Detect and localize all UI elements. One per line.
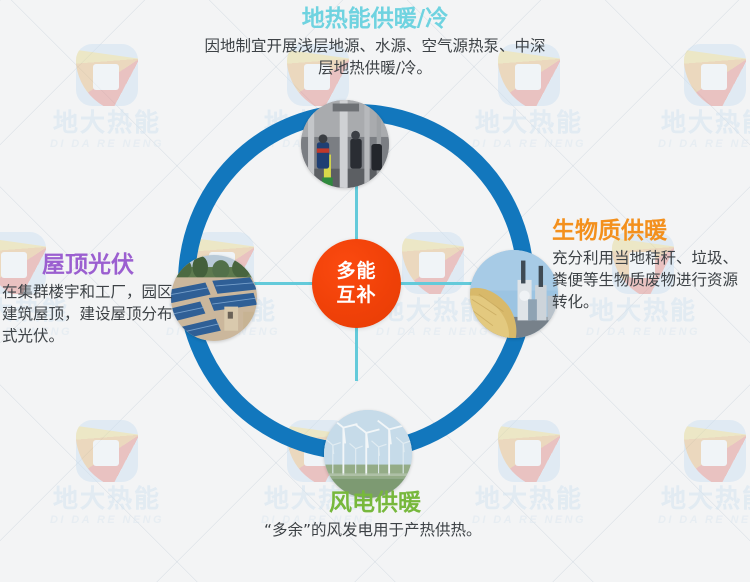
geothermal-equipment-photo[interactable] [301,100,389,188]
watermark-cn-text: 地大热能 [53,486,161,511]
watermark-cn-text: 地大热能 [53,110,161,135]
watermark-en-text: DI DA RE NENG [50,138,164,150]
brand-logo-icon [76,420,138,482]
watermark-en-text: DI DA RE NENG [658,138,750,150]
watermark-tile: 地大热能 DI DA RE NENG [630,44,750,194]
connector-spoke-bottom [355,325,358,381]
connector-spoke-top [355,186,358,242]
node-text-top: 地热能供暖/冷 因地制宜开展浅层地源、水源、空气源热泵、中深层地热供暖/冷。 [200,6,550,79]
watermark-tile: 地大热能 DI DA RE NENG [22,44,192,194]
brand-logo-icon [76,44,138,106]
brand-logo-icon [498,420,560,482]
node-desc-rooftop-pv: 在集群楼宇和工厂，园区建筑屋顶，建设屋顶分布式光伏。 [2,281,174,347]
watermark-en-text: DI DA RE NENG [586,326,700,338]
infographic-canvas: 地大热能 DI DA RE NENG 地大热能 DI DA RE NENG 地大… [0,0,750,582]
wind-turbines-photo[interactable] [324,410,412,498]
watermark-en-text: DI DA RE NENG [472,138,586,150]
watermark-en-text: DI DA RE NENG [658,514,750,526]
center-hub-label-line2: 互补 [336,284,376,307]
center-hub-label-line1: 多能 [336,260,376,283]
node-desc-biomass: 充分利用当地秸秆、垃圾、粪便等生物质废物进行资源转化。 [552,247,750,313]
rooftop-solar-panels-photo[interactable] [171,255,257,341]
biomass-straw-plant-photo[interactable] [470,250,558,338]
watermark-en-text: DI DA RE NENG [50,514,164,526]
watermark-cn-text: 地大热能 [661,110,750,135]
watermark-tile: 地大热能 DI DA RE NENG [22,420,192,570]
node-desc-geothermal: 因地制宜开展浅层地源、水源、空气源热泵、中深层地热供暖/冷。 [200,35,550,79]
node-title-geothermal: 地热能供暖/冷 [200,6,550,32]
node-text-bottom: 风电供暖 “多余”的风发电用于产热供热。 [240,490,510,541]
connector-spoke-right [400,282,478,285]
node-title-biomass: 生物质供暖 [552,218,750,244]
watermark-tile: 地大热能 DI DA RE NENG [630,420,750,570]
node-text-left: 屋顶光伏 在集群楼宇和工厂，园区建筑屋顶，建设屋顶分布式光伏。 [2,252,174,347]
watermark-cn-text: 地大热能 [661,486,750,511]
watermark-cn-text: 地大热能 [475,110,583,135]
node-title-wind-heating: 风电供暖 [240,490,510,516]
center-hub-node[interactable]: 多能 互补 [312,239,401,328]
node-desc-wind-heating: “多余”的风发电用于产热供热。 [240,519,510,541]
node-text-right: 生物质供暖 充分利用当地秸秆、垃圾、粪便等生物质废物进行资源转化。 [552,218,750,313]
brand-logo-icon [684,420,746,482]
brand-logo-icon [684,44,746,106]
node-title-rooftop-pv: 屋顶光伏 [2,252,174,278]
